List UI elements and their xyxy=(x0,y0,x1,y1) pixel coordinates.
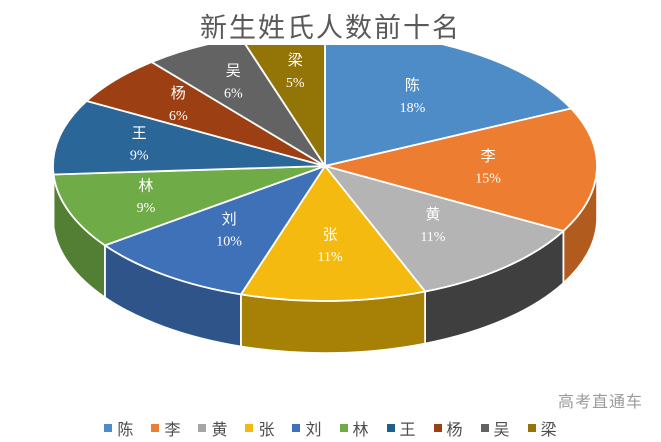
legend-label: 林 xyxy=(353,416,369,440)
legend-item[interactable]: 吴 xyxy=(481,416,510,440)
legend-swatch-icon xyxy=(340,424,348,432)
slice-percent-text: 15% xyxy=(475,172,501,187)
slice-name-text: 杨 xyxy=(171,85,186,102)
slice-percent-text: 6% xyxy=(224,86,243,101)
slice-name-text: 李 xyxy=(481,148,496,165)
legend-item[interactable]: 杨 xyxy=(434,416,463,440)
slice-name-text: 陈 xyxy=(405,76,420,94)
legend-item[interactable]: 黄 xyxy=(198,416,227,440)
slice-percent-text: 9% xyxy=(130,149,149,164)
slice-name-text: 梁 xyxy=(288,52,303,69)
chart-legend: 陈李黄张刘林王杨吴梁 xyxy=(0,416,661,440)
legend-label: 刘 xyxy=(305,416,321,440)
legend-label: 吴 xyxy=(494,416,510,440)
legend-swatch-icon xyxy=(104,424,112,432)
legend-label: 王 xyxy=(400,416,416,440)
slice-name-text: 刘 xyxy=(222,211,237,228)
slice-name-text: 张 xyxy=(323,226,338,243)
slice-percent-text: 18% xyxy=(400,101,426,116)
slice-percent-text: 5% xyxy=(286,76,305,91)
legend-swatch-icon xyxy=(151,424,159,432)
slice-percent-text: 11% xyxy=(420,230,445,245)
slice-percent-text: 6% xyxy=(169,109,188,124)
legend-swatch-icon xyxy=(528,424,536,432)
legend-label: 李 xyxy=(164,416,180,440)
legend-item[interactable]: 林 xyxy=(340,416,369,440)
legend-item[interactable]: 陈 xyxy=(104,416,133,440)
legend-item[interactable]: 张 xyxy=(245,416,274,440)
legend-swatch-icon xyxy=(387,424,395,432)
slice-percent-text: 10% xyxy=(216,235,242,250)
legend-label: 梁 xyxy=(541,416,557,440)
legend-label: 黄 xyxy=(211,416,227,440)
legend-item[interactable]: 李 xyxy=(151,416,180,440)
legend-label: 张 xyxy=(258,416,274,440)
legend-swatch-icon xyxy=(481,424,489,432)
legend-swatch-icon xyxy=(245,424,253,432)
legend-item[interactable]: 刘 xyxy=(292,416,321,440)
legend-swatch-icon xyxy=(198,424,206,432)
legend-label: 杨 xyxy=(447,416,463,440)
slice-name-text: 林 xyxy=(138,177,153,194)
watermark-text: 高考直通车 xyxy=(558,388,643,412)
legend-swatch-icon xyxy=(434,424,442,432)
slice-name-text: 黄 xyxy=(425,206,440,223)
legend-item[interactable]: 王 xyxy=(387,416,416,440)
slice-percent-text: 11% xyxy=(318,250,343,265)
slice-name-text: 吴 xyxy=(226,63,241,80)
slice-name-text: 王 xyxy=(132,126,147,142)
page-title: 新生姓氏人数前十名 xyxy=(0,8,661,48)
pie-chart-page: 新生姓氏人数前十名 陈18%李15%黄11%张11%刘10%林9%王9%杨6%吴… xyxy=(0,0,661,442)
pie-chart: 陈18%李15%黄11%张11%刘10%林9%王9%杨6%吴6%梁5% xyxy=(0,45,661,390)
legend-label: 陈 xyxy=(117,416,133,440)
legend-swatch-icon xyxy=(292,424,300,432)
slice-percent-text: 9% xyxy=(137,201,156,216)
legend-item[interactable]: 梁 xyxy=(528,416,557,440)
